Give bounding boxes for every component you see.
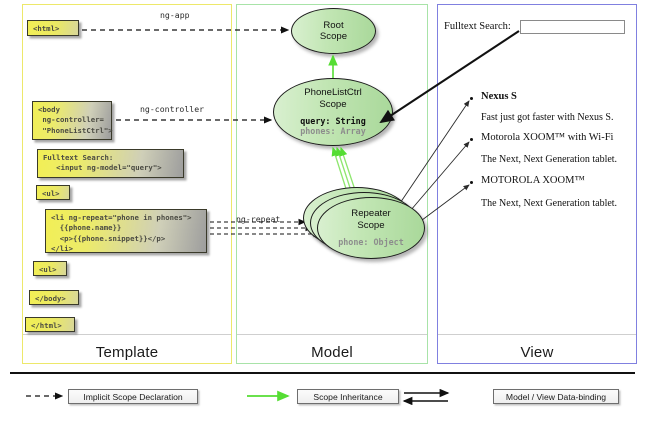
scope-root-title-line2: Scope <box>320 31 347 42</box>
code-box-body-close: </body> <box>29 290 79 305</box>
model-divider <box>237 334 427 335</box>
column-model: Model <box>236 4 428 364</box>
code-box-ul-close: <ul> <box>33 261 67 276</box>
legend-model-view-data-binding: Model / View Data-binding <box>493 389 619 404</box>
legend-scope-inheritance: Scope Inheritance <box>297 389 399 404</box>
code-box-html-close: </html> <box>25 317 75 332</box>
scope-root: Root Scope <box>291 8 376 54</box>
scope-repeater-prop-phone: phone: Object <box>338 237 404 248</box>
scope-phonelistctrl: PhoneListCtrl Scope query: String phones… <box>273 78 393 146</box>
code-box-html-open: <html> <box>27 20 79 36</box>
scope-phonelistctrl-title-line2: Scope <box>319 99 346 110</box>
scope-repeater-title-line1: Repeater <box>351 208 390 219</box>
scope-repeater: Repeater Scope phone: Object <box>317 197 425 259</box>
scope-phonelistctrl-prop-query: query: String <box>300 116 366 127</box>
view-item-name-1: Motorola XOOM™ with Wi-Fi <box>481 132 613 143</box>
legend-rule <box>10 372 635 374</box>
scope-phonelistctrl-title-line1: PhoneListCtrl <box>304 87 362 98</box>
view-item-name-0: Nexus S <box>481 91 517 102</box>
view-search-input[interactable] <box>520 20 625 34</box>
view-item-snippet-2: The Next, Next Generation tablet. <box>481 198 617 209</box>
scope-phonelistctrl-prop-phones: phones: Array <box>300 126 366 137</box>
view-item-snippet-0: Fast just got faster with Nexus S. <box>481 112 614 123</box>
column-label-template: Template <box>23 344 231 361</box>
column-label-view: View <box>438 344 636 361</box>
view-divider <box>438 334 636 335</box>
template-divider <box>23 334 231 335</box>
scope-root-title-line1: Root <box>323 20 343 31</box>
diagram-canvas: Template Model View <html> <body ng-cont… <box>0 0 645 425</box>
code-box-body-open: <body ng-controller= "PhoneListCtrl"> <box>32 101 112 140</box>
code-box-search-input: Fulltext Search: <input ng-model="query"… <box>37 149 184 178</box>
legend-implicit-scope-declaration: Implicit Scope Declaration <box>68 389 198 404</box>
code-box-ul-open: <ul> <box>36 185 70 200</box>
view-item-name-2: MOTOROLA XOOM™ <box>481 175 585 186</box>
column-label-model: Model <box>237 344 427 361</box>
view-item-snippet-1: The Next, Next Generation tablet. <box>481 154 617 165</box>
edge-label-ng-controller: ng-controller <box>140 104 204 114</box>
view-search-label: Fulltext Search: <box>444 21 511 32</box>
code-box-li-repeat: <li ng-repeat="phone in phones"> {{phone… <box>45 209 207 253</box>
edge-label-ng-app: ng-app <box>160 10 190 20</box>
column-template: Template <box>22 4 232 364</box>
scope-repeater-title-line2: Scope <box>357 220 384 231</box>
edge-label-ng-repeat: ng-repeat <box>236 214 280 224</box>
